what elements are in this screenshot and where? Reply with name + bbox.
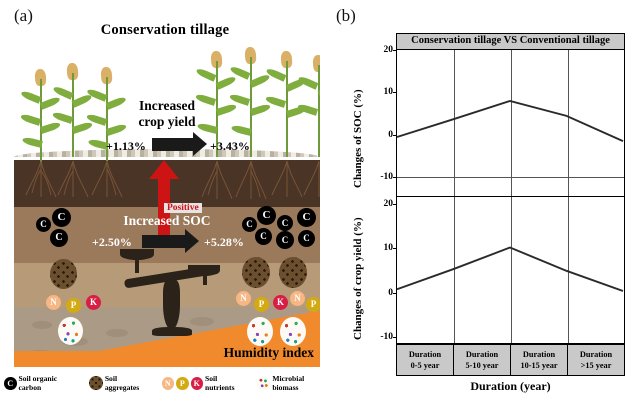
soil-nutrient-n-icon: N <box>162 377 174 390</box>
crop-yield-to-value: +3.43% <box>210 139 250 154</box>
microbial-biomass-icon <box>257 376 270 390</box>
legend-item-soil-organic-carbon: C Soil organic carbon <box>4 374 79 392</box>
microbial-biomass-icon <box>58 317 83 345</box>
soil-organic-carbon-icon: C <box>277 215 293 231</box>
y-tick-label: 10 <box>384 87 394 97</box>
soil-aggregates-icon <box>89 376 102 390</box>
soil-nutrient-n-icon: N <box>46 295 61 310</box>
soil-organic-carbon-icon: C <box>297 208 316 227</box>
legend-label: Soil aggregates <box>105 374 152 392</box>
panel-a: (a) Conservation tillage Humidity index <box>0 0 330 407</box>
scale-post <box>163 280 180 330</box>
balance-scale-icon <box>122 240 222 336</box>
soil-nutrient-p-icon: P <box>176 377 188 390</box>
figure-root: (a) Conservation tillage Humidity index <box>0 0 636 407</box>
soil-nutrient-p-icon: P <box>254 297 269 312</box>
y-axis-title-bottom: Changes of crop yield (%) <box>352 200 364 340</box>
panel-a-legend: C Soil organic carbon Soil aggregates N … <box>4 371 330 395</box>
positive-feedback-label: Positive <box>164 203 202 213</box>
panel-a-title: Conservation tillage <box>0 22 330 39</box>
soil-organic-carbon-icon: C <box>257 206 276 225</box>
chart-soc-plot: 20 10 0 -10 <box>396 49 625 197</box>
x-category-1: Duration 5-10 year <box>454 345 511 375</box>
soil-aggregates-icon <box>242 257 270 288</box>
crop-yield-heading-line2: crop yield <box>138 114 195 129</box>
legend-label: Soil organic carbon <box>19 374 80 392</box>
y-tick-label: -10 <box>380 172 393 182</box>
y-tick-label: 10 <box>384 243 394 253</box>
x-category-line2: 5-10 year <box>466 360 499 371</box>
legend-label: Microbial biomass <box>272 374 330 392</box>
crop-yield-from-value: +1.13% <box>106 139 146 154</box>
chart-title: Conservation tillage VS Conventional til… <box>396 33 625 50</box>
y-tick-label: 20 <box>384 199 394 209</box>
legend-item-microbial-biomass: Microbial biomass <box>257 374 330 392</box>
soil-organic-carbon-icon: C <box>276 231 294 249</box>
soil-aggregates-icon <box>279 257 307 288</box>
x-category-line1: Duration <box>523 349 555 360</box>
x-category-0: Duration 0-5 year <box>397 345 454 375</box>
x-category-line2: 0-5 year <box>411 360 440 371</box>
soil-nutrient-p-icon: P <box>306 297 320 312</box>
x-category-3: Duration >15 year <box>568 345 624 375</box>
chart-crop-yield-plot: 20 10 0 -10 <box>396 196 625 344</box>
legend-item-soil-aggregates: Soil aggregates <box>89 374 151 392</box>
x-category-line2: >15 year <box>581 360 612 371</box>
y-tick-label: -10 <box>380 332 393 342</box>
y-axis-title-top: Changes of SOC (%) <box>352 58 364 188</box>
soil-organic-carbon-icon: C <box>298 230 315 247</box>
legend-item-soil-nutrients: N P K Soil nutrients <box>162 374 247 392</box>
x-category-line1: Duration <box>580 349 612 360</box>
x-category-line1: Duration <box>409 349 441 360</box>
soil-nutrient-k-icon: K <box>86 295 101 310</box>
scale-pan-left <box>120 249 154 260</box>
crop-yield-heading-line1: Increased <box>139 98 195 113</box>
soil-nutrient-k-icon: K <box>191 377 203 390</box>
soil-organic-carbon-icon: C <box>242 217 257 232</box>
soil-organic-carbon-icon: C <box>50 229 68 247</box>
soil-nutrient-n-icon: N <box>236 291 251 306</box>
soil-organic-carbon-icon: C <box>4 377 17 390</box>
soil-nutrient-p-icon: P <box>66 298 81 313</box>
soil-organic-carbon-icon: C <box>36 217 51 232</box>
legend-label: Soil nutrients <box>205 374 247 392</box>
soil-organic-carbon-icon: C <box>52 208 71 227</box>
crop-yield-arrow-icon <box>152 138 194 151</box>
x-axis-category-row: Duration 0-5 year Duration 5-10 year Dur… <box>396 344 625 376</box>
x-category-2: Duration 10-15 year <box>511 345 568 375</box>
soc-series-line <box>397 50 623 195</box>
soil-nutrient-n-icon: N <box>290 291 305 306</box>
soil-organic-carbon-icon: C <box>255 228 272 245</box>
microbial-biomass-icon <box>247 317 273 346</box>
crop-yield-series-line <box>397 197 623 342</box>
conceptual-soil-scene: Humidity index <box>14 45 320 367</box>
x-axis-title: Duration (year) <box>396 379 625 394</box>
x-category-line1: Duration <box>466 349 498 360</box>
soil-nutrient-k-icon: K <box>273 295 288 310</box>
y-tick-label: 20 <box>384 45 394 55</box>
microbial-biomass-icon <box>280 317 306 346</box>
crop-yield-heading: Increased crop yield <box>14 98 320 130</box>
panel-b: (b) Conservation tillage VS Conventional… <box>330 0 636 407</box>
soil-aggregates-icon <box>50 259 77 289</box>
x-category-line2: 10-15 year <box>520 360 557 371</box>
panel-b-label: (b) <box>336 6 356 26</box>
scale-pan-right <box>188 265 220 276</box>
